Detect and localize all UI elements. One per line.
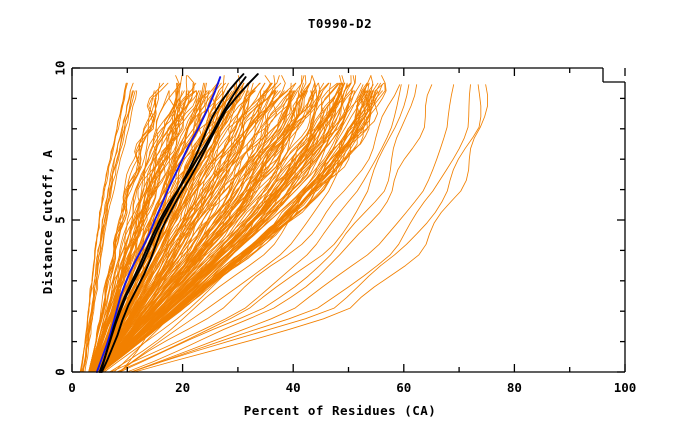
x-tick-label: 80: [507, 380, 522, 395]
x-tick-label: 40: [286, 380, 301, 395]
x-tick-label: 0: [68, 380, 76, 395]
x-tick-label: 100: [614, 380, 637, 395]
plot-area: 0204060801000510: [0, 0, 680, 440]
curves-layer: [80, 74, 487, 372]
y-axis-label: Distance Cutoff, A: [40, 72, 55, 372]
x-tick-label: 60: [396, 380, 411, 395]
x-tick-label: 20: [175, 380, 190, 395]
chart-figure: T0990-D2 0204060801000510 Percent of Res…: [0, 0, 680, 440]
x-axis-label: Percent of Residues (CA): [0, 403, 680, 418]
